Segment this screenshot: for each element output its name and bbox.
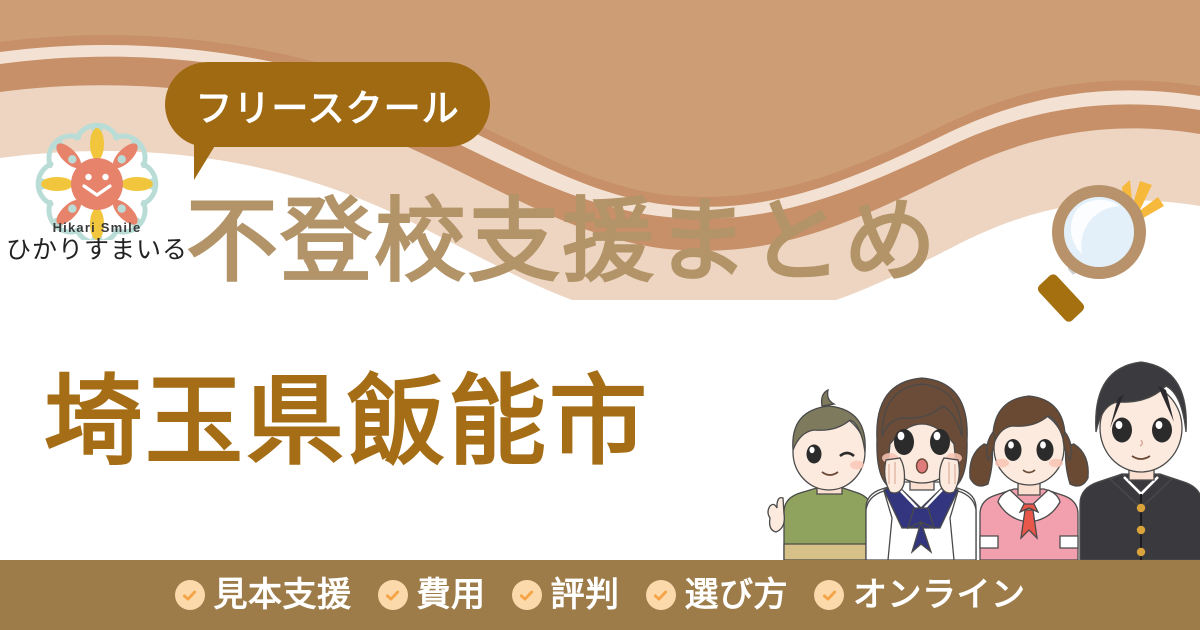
character-boy-green-shirt-thumbs-up xyxy=(768,390,872,560)
check-circle-icon xyxy=(814,580,844,610)
site-logo[interactable]: Hikari Smile ひかりすまいる xyxy=(6,122,188,290)
feature-tag[interactable]: 費用 xyxy=(378,578,486,612)
check-circle-icon xyxy=(646,580,676,610)
feature-tag[interactable]: 選び方 xyxy=(646,578,789,612)
check-circle-icon xyxy=(175,580,205,610)
category-label: フリースクール xyxy=(195,78,459,132)
logo-japanese-name: ひかりすまいる xyxy=(6,237,188,265)
student-characters-illustration xyxy=(762,332,1200,560)
feature-tag[interactable]: 見本支援 xyxy=(175,578,352,612)
feature-tag-label: 評判 xyxy=(551,578,620,612)
feature-tag-label: 費用 xyxy=(417,578,486,612)
feature-tag-label: 選び方 xyxy=(685,578,789,612)
character-boy-black-gakuran xyxy=(1080,362,1200,560)
feature-tag-bar: 見本支援 費用 評判 選び方 xyxy=(0,560,1200,630)
speech-bubble-tail xyxy=(194,144,226,180)
magnifying-glass-icon xyxy=(1034,162,1186,338)
character-girl-pink-dress-twin-tails xyxy=(970,396,1088,560)
category-speech-bubble[interactable]: フリースクール xyxy=(165,62,490,147)
character-girl-sailor-uniform-surprised xyxy=(866,378,976,560)
magnifier-handle xyxy=(1036,272,1086,323)
feature-tag-label: 見本支援 xyxy=(214,578,352,612)
check-circle-icon xyxy=(512,580,542,610)
banner-canvas: Hikari Smile ひかりすまいる フリースクール 不登校支援まとめ 埼玉… xyxy=(0,0,1200,630)
check-circle-icon xyxy=(378,580,408,610)
feature-tag[interactable]: 評判 xyxy=(512,578,620,612)
feature-tag[interactable]: オンライン xyxy=(814,578,1026,612)
feature-tag-label: オンライン xyxy=(853,578,1026,612)
logo-english-name: Hikari Smile xyxy=(6,220,188,235)
page-title-main: 不登校支援まとめ xyxy=(186,196,938,288)
page-title-location: 埼玉県飯能市 xyxy=(44,372,650,470)
